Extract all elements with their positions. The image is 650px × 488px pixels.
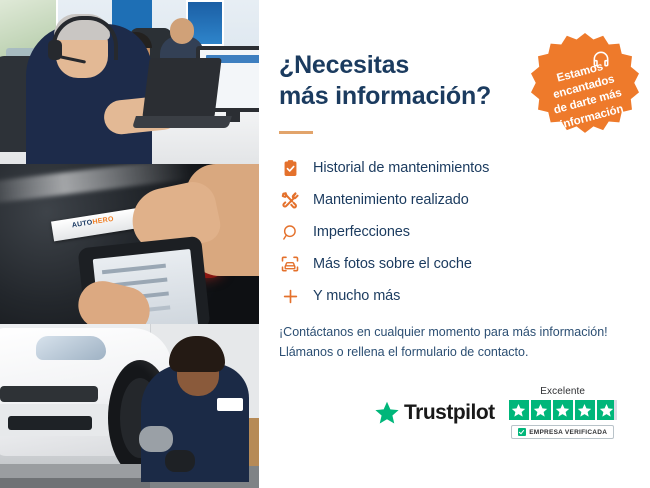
verified-check-icon xyxy=(518,428,526,436)
trustpilot-wordmark: Trustpilot xyxy=(404,401,495,425)
mechanic-wheel-photo xyxy=(0,324,259,488)
car-air-intake xyxy=(8,416,92,430)
contact-line-2: Llámanos o rellena el formulario de cont… xyxy=(279,345,528,359)
trustpilot-star-row xyxy=(509,400,617,420)
star-icon xyxy=(577,403,592,418)
feature-item-maintenance-done: Mantenimiento realizado xyxy=(279,184,599,216)
plus-glyph xyxy=(281,287,300,306)
car-scan-glyph xyxy=(280,254,300,274)
trustpilot-logo[interactable]: Trustpilot xyxy=(374,400,495,426)
photo-column: AUTOHERO xyxy=(0,0,259,488)
feature-label: Más fotos sobre el coche xyxy=(313,256,472,272)
plus-icon xyxy=(279,285,301,307)
verified-company-badge: EMPRESA VERIFICADA xyxy=(511,425,614,439)
call-center-agent-photo xyxy=(0,0,259,164)
inspection-ruler-photo: AUTOHERO xyxy=(0,164,259,324)
clipboard-check-glyph xyxy=(281,159,300,178)
clipboard-check-icon xyxy=(279,157,301,179)
content-panel: ¿Necesitas más información? Estamos enca… xyxy=(259,0,650,488)
trustpilot-widget[interactable]: Trustpilot Excelente xyxy=(374,386,617,439)
feature-item-more-photos: Más fotos sobre el coche xyxy=(279,248,599,280)
page-title: ¿Necesitas más información? xyxy=(279,50,509,112)
mechanic-glove-secondary xyxy=(165,450,195,472)
headline-line-2: más información? xyxy=(279,82,491,110)
laptop-keyboard xyxy=(132,116,232,128)
feature-label: Imperfecciones xyxy=(313,224,410,240)
car-grille xyxy=(0,386,98,402)
feature-label: Historial de mantenimientos xyxy=(313,160,489,176)
mechanic-glove xyxy=(139,426,173,452)
mechanic-uniform-badge xyxy=(217,398,243,411)
car-scan-icon xyxy=(279,253,301,275)
background-colleague-far-head xyxy=(170,18,194,44)
promo-card: AUTOHERO xyxy=(0,0,650,488)
magnifier-icon xyxy=(279,221,301,243)
trustpilot-star-icon xyxy=(374,400,400,426)
feature-label: Mantenimiento realizado xyxy=(313,192,469,208)
headline-line-1: ¿Necesitas xyxy=(279,51,409,79)
laptop-screen xyxy=(142,58,221,118)
trustpilot-rating-label: Excelente xyxy=(540,386,585,397)
star-icon xyxy=(533,403,548,418)
crossed-tools-glyph xyxy=(280,190,300,210)
feature-list: Historial de mantenimientos Mante xyxy=(279,152,599,312)
feature-label: Y mucho más xyxy=(313,288,400,304)
verified-company-label: EMPRESA VERIFICADA xyxy=(529,429,607,436)
trustpilot-star-2 xyxy=(531,400,551,420)
contact-line-1: ¡Contáctanos en cualquier momento para m… xyxy=(279,325,608,339)
feature-item-imperfections: Imperfecciones xyxy=(279,216,599,248)
trustpilot-star-5-partial xyxy=(597,400,617,420)
star-icon xyxy=(511,403,526,418)
autohero-ruler-label: AUTOHERO xyxy=(71,216,114,230)
promo-starburst-badge: Estamos encantados de darte más informac… xyxy=(531,33,639,141)
ruler-brand-suffix: HERO xyxy=(92,216,114,226)
car-headlight xyxy=(36,336,106,360)
ruler-brand-prefix: AUTO xyxy=(71,219,93,229)
tools-icon xyxy=(279,189,301,211)
trustpilot-star-3 xyxy=(553,400,573,420)
car-lift-base xyxy=(0,478,150,488)
trustpilot-star-1 xyxy=(509,400,529,420)
trustpilot-rating[interactable]: Excelente xyxy=(509,386,617,439)
magnifier-glyph xyxy=(281,223,300,242)
star-icon xyxy=(599,403,614,418)
accent-divider xyxy=(279,131,313,134)
feature-item-maintenance-history: Historial de mantenimientos xyxy=(279,152,599,184)
feature-item-and-more: Y mucho más xyxy=(279,280,599,312)
trustpilot-star-4 xyxy=(575,400,595,420)
star-icon xyxy=(555,403,570,418)
contact-paragraph: ¡Contáctanos en cualquier momento para m… xyxy=(279,322,629,363)
